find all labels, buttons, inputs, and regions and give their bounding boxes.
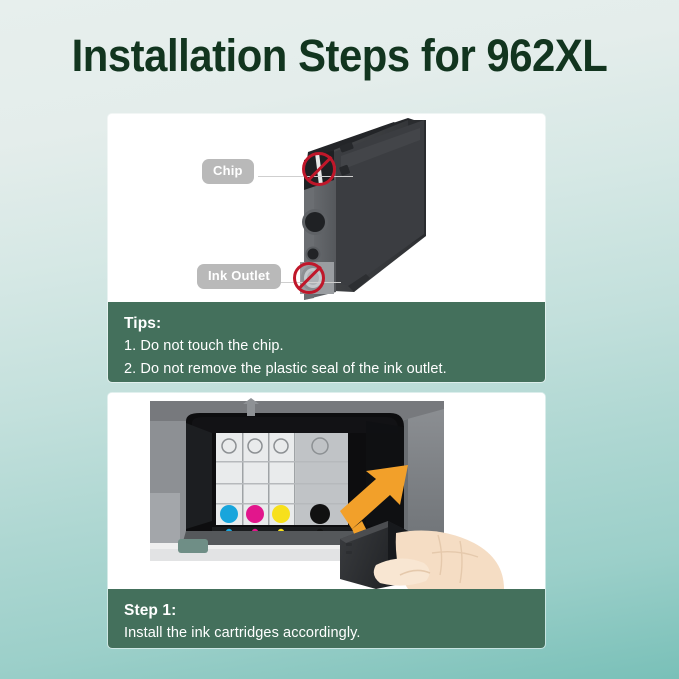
step-line-1: Install the ink cartridges accordingly. <box>124 622 529 644</box>
tips-line-2: 2. Do not remove the plastic seal of the… <box>124 358 529 380</box>
cartridge-svg <box>108 114 545 302</box>
ink-cartridge-illustration: Chip Ink Outlet <box>108 114 545 302</box>
installation-panel-step-1: Step 1: Install the ink cartridges accor… <box>108 393 545 648</box>
printer-illustration <box>108 393 545 589</box>
step-banner: Step 1: Install the ink cartridges accor… <box>108 589 545 648</box>
ink-cartridge-figure: Chip Ink Outlet <box>108 114 545 302</box>
magenta-slot-indicator <box>246 505 264 523</box>
ink-outlet-prohibition-icon <box>293 262 325 294</box>
chip-callout-label: Chip <box>202 159 254 184</box>
tips-line-1: 1. Do not touch the chip. <box>124 335 529 357</box>
cyan-slot-indicator <box>220 505 238 523</box>
tips-heading: Tips: <box>124 313 529 335</box>
yellow-slot-indicator <box>272 505 290 523</box>
installation-panel-tips: Chip Ink Outlet Tips: 1. Do not touch th… <box>108 114 545 382</box>
chip-prohibition-icon <box>302 152 336 186</box>
page-title: Installation Steps for 962XL <box>24 30 655 82</box>
step-heading: Step 1: <box>124 600 529 622</box>
tips-banner: Tips: 1. Do not touch the chip. 2. Do no… <box>108 302 545 382</box>
printer-install-figure <box>108 393 545 589</box>
printer-svg <box>108 393 545 589</box>
black-slot-indicator <box>310 504 330 524</box>
ink-outlet-callout-label: Ink Outlet <box>197 264 281 289</box>
